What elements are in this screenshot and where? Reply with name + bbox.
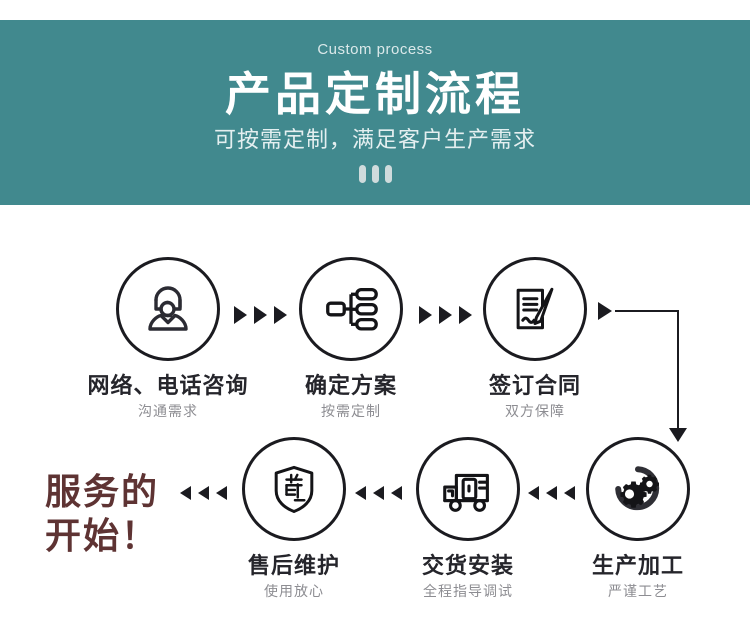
step-title: 售后维护: [194, 554, 394, 578]
delivery-truck-icon: [416, 437, 520, 541]
triangle-right-icon: [598, 302, 612, 320]
dot-1: [359, 165, 366, 183]
service-start-line-2: 开始！: [45, 514, 159, 558]
banner-subtitle: 可按需定制，满足客户生产需求: [214, 129, 536, 151]
triangle-left-icon: [355, 486, 366, 500]
service-start-headline: 服务的 开始！: [45, 470, 159, 558]
dots-decoration: [359, 165, 392, 183]
step-title: 生产加工: [538, 554, 738, 578]
gears-production-icon: [586, 437, 690, 541]
page-title: 产品定制流程: [225, 70, 525, 118]
triangle-right-icon: [419, 306, 432, 324]
process-step-production[interactable]: 生产加工 严谨工艺: [538, 437, 738, 600]
headset-person-icon: [116, 257, 220, 361]
custom-process-infographic: Custom process 产品定制流程 可按需定制，满足客户生产需求 网络、…: [0, 0, 750, 643]
process-flow: 网络、电话咨询 沟通需求 确: [0, 205, 750, 643]
step-title: 确定方案: [251, 374, 451, 398]
dot-3: [385, 165, 392, 183]
step-title: 网络、电话咨询: [68, 374, 268, 398]
contract-signing-icon: [483, 257, 587, 361]
shield-aftersales-icon: [242, 437, 346, 541]
step-subtitle: 使用放心: [194, 584, 394, 599]
connector-horizontal-line: [615, 310, 679, 312]
dot-2: [372, 165, 379, 183]
connector-contract-to-production: [598, 301, 698, 451]
step-subtitle: 严谨工艺: [538, 584, 738, 599]
triangle-right-icon: [234, 306, 247, 324]
flowchart-icon: [299, 257, 403, 361]
banner-eyebrow: Custom process: [317, 42, 432, 57]
header-banner: Custom process 产品定制流程 可按需定制，满足客户生产需求: [0, 20, 750, 205]
triangle-left-icon: [180, 486, 191, 500]
process-step-consultation[interactable]: 网络、电话咨询 沟通需求: [68, 257, 268, 420]
connector-vertical-line: [677, 310, 679, 430]
service-start-line-1: 服务的: [45, 470, 159, 514]
step-subtitle: 按需定制: [251, 404, 451, 419]
process-step-plan[interactable]: 确定方案 按需定制: [251, 257, 451, 420]
process-step-aftersales[interactable]: 售后维护 使用放心: [194, 437, 394, 600]
step-subtitle: 沟通需求: [68, 404, 268, 419]
